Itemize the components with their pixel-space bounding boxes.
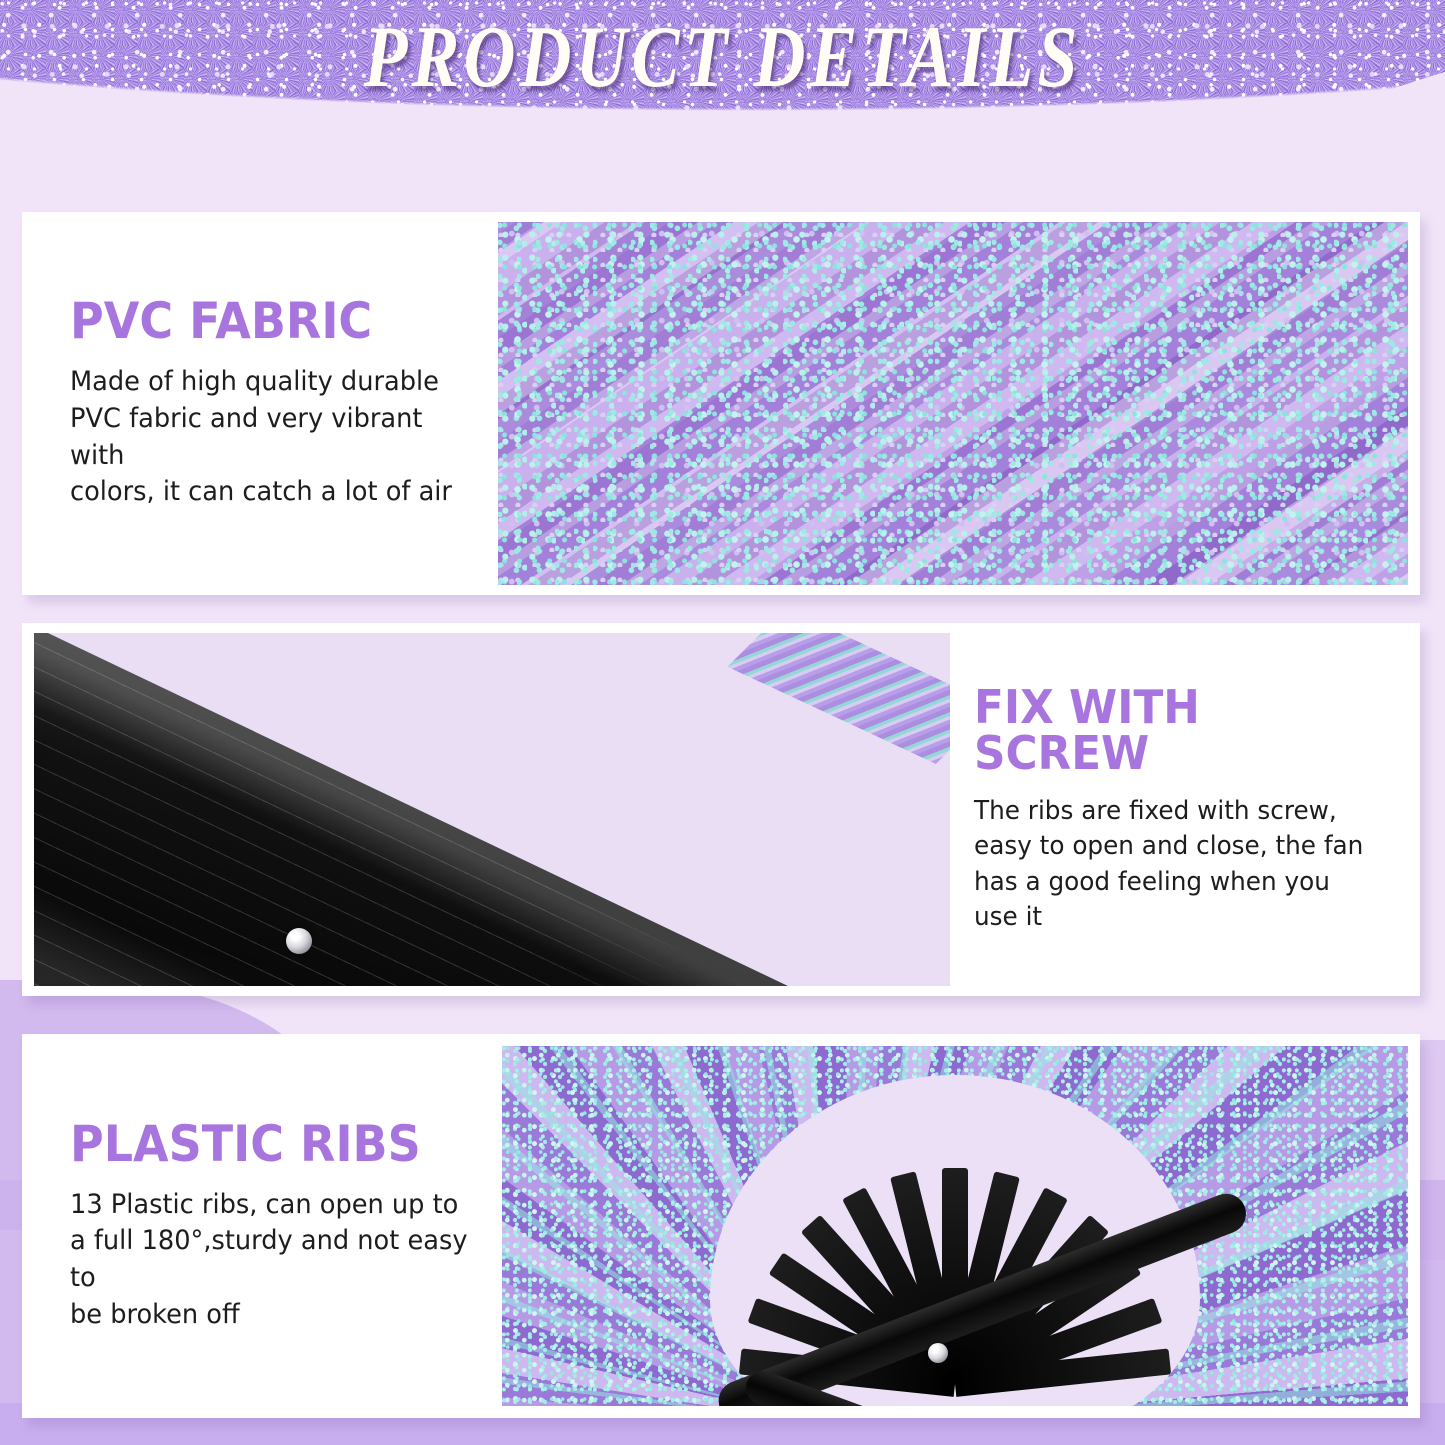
card-text-pane: PLASTIC RIBS 13 Plastic ribs, can open u… bbox=[22, 1034, 502, 1418]
glitter-fabric-texture bbox=[498, 222, 1408, 585]
detail-card-fix-with-screw: FIX WITH SCREW The ribs are fixed with s… bbox=[22, 623, 1420, 996]
pivot-screw-icon bbox=[928, 1343, 948, 1363]
card-body-text: 13 Plastic ribs, can open up to a full 1… bbox=[70, 1187, 481, 1334]
fan-ribs-group bbox=[502, 1046, 1408, 1406]
card-heading: PLASTIC RIBS bbox=[70, 1119, 468, 1169]
card-text-pane: PVC FABRIC Made of high quality durable … bbox=[22, 212, 498, 595]
fabric-photo bbox=[498, 222, 1408, 585]
card-body-text: Made of high quality durable PVC fabric … bbox=[70, 364, 477, 511]
card-heading: FIX WITH SCREW bbox=[974, 684, 1364, 776]
glitter-fabric-edge bbox=[727, 633, 950, 764]
photo-backdrop bbox=[34, 633, 950, 986]
page-title: PRODUCT DETAILS bbox=[0, 7, 1445, 108]
screw-rivet-icon bbox=[286, 928, 312, 954]
product-details-page: PRODUCT DETAILS PVC FABRIC Made of high … bbox=[0, 0, 1445, 1445]
card-body-text: The ribs are fixed with screw, easy to o… bbox=[974, 794, 1364, 935]
card-text-pane: FIX WITH SCREW The ribs are fixed with s… bbox=[950, 623, 1410, 996]
open-fan-photo bbox=[502, 1046, 1408, 1406]
card-heading: PVC FABRIC bbox=[70, 296, 464, 346]
detail-card-plastic-ribs: PLASTIC RIBS 13 Plastic ribs, can open u… bbox=[22, 1034, 1420, 1418]
folded-fan-photo bbox=[34, 633, 950, 986]
detail-card-pvc-fabric: PVC FABRIC Made of high quality durable … bbox=[22, 212, 1420, 595]
